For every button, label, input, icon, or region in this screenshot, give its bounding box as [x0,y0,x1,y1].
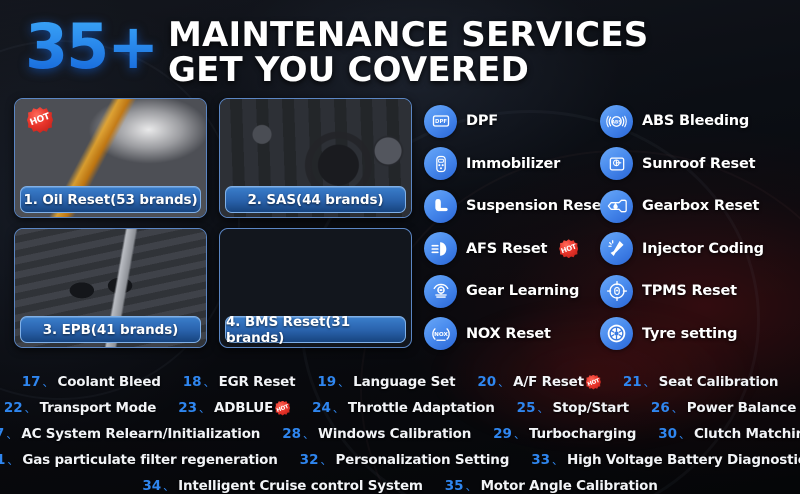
hot-badge-icon [586,375,601,390]
list-item-number: 27 [0,426,4,442]
list-item[interactable]: 20、A/F Reset [477,374,601,390]
service-icon-item-injector-coding[interactable]: Injector Coding [600,232,796,265]
list-item[interactable]: 35、Motor Angle Calibration [445,478,658,494]
promo-banner: 35+ MAINTENANCE SERVICES GET YOU COVERED… [0,0,800,494]
list-item-label: Turbocharging [529,426,636,442]
title-line-1: MAINTENANCE SERVICES [168,18,648,53]
list-item-number: 25 [517,400,536,416]
list-separator: 、 [320,452,331,468]
list-item-label: Gas particulate filter regeneration [22,452,277,468]
list-separator: 、 [333,400,344,416]
list-item[interactable]: 21、Seat Calibration [623,374,778,390]
hot-badge-icon [275,401,290,416]
service-icon-item-abs-bleeding[interactable]: ABS ABS Bleeding [600,105,796,138]
list-item-number: 35 [445,478,464,494]
list-item-label: Language Set [353,374,455,390]
service-icon-item-suspension-reset[interactable]: Suspension Reset [424,190,600,223]
list-item[interactable]: 17、Coolant Bleed [22,374,161,390]
list-item-number: 24 [312,400,331,416]
dpf-icon: DPF [424,105,457,138]
list-item-label: A/F Reset [513,374,584,390]
list-separator: 、 [204,374,215,390]
service-icon-label: AFS Reset [466,241,547,257]
list-item-label: Coolant Bleed [58,374,161,390]
service-icon-item-gearbox-reset[interactable]: Gearbox Reset [600,190,796,223]
list-item-label: Clutch Matching [694,426,800,442]
list-item-number: 18 [183,374,202,390]
list-item-label: ADBLUE [214,400,273,416]
tyre-wheel-icon [600,317,633,350]
service-icon-grid: DPF DPF ABS ABS Bleeding Immobilizer Sun… [424,100,796,355]
list-item[interactable]: 30、Clutch Matching [658,426,800,442]
list-separator: 、 [7,452,18,468]
list-item[interactable]: 22、Transport Mode [4,400,156,416]
service-icon-label: Tyre setting [642,326,737,342]
service-icon-label: NOX Reset [466,326,551,342]
service-card-oil-reset[interactable]: 1. Oil Reset(53 brands) [14,98,207,218]
service-icon-label: Suspension Reset [466,198,608,214]
list-separator: 、 [498,374,509,390]
list-item[interactable]: 31、Gas particulate filter regeneration [0,452,278,468]
service-icon-item-tpms-reset[interactable]: TPMS Reset [600,275,796,308]
svg-text:DPF: DPF [435,119,447,125]
sunroof-icon [600,147,633,180]
list-row: 31、Gas particulate filter regeneration 3… [0,447,800,473]
service-icon-item-immobilizer[interactable]: Immobilizer [424,147,600,180]
additional-services-list: 17、Coolant Bleed 18、EGR Reset 19、Languag… [0,363,800,494]
list-separator: 、 [303,426,314,442]
service-card-epb[interactable]: 3. EPB(41 brands) [14,228,207,348]
list-item-number: 21 [623,374,642,390]
service-card-sas[interactable]: 2. SAS(44 brands) [219,98,412,218]
tyre-pressure-sensor-icon [600,275,633,308]
list-separator: 、 [466,478,477,494]
list-separator: 、 [644,374,655,390]
service-icon-item-afs-reset[interactable]: AFS Reset [424,232,600,265]
list-separator: 、 [338,374,349,390]
list-row: 27、AC System Relearn/Initialization 28、W… [0,421,800,447]
service-icon-label: Gearbox Reset [642,198,759,214]
list-item[interactable]: 27、AC System Relearn/Initialization [0,426,260,442]
list-item[interactable]: 26、Power Balance [651,400,796,416]
list-item-number: 23 [178,400,197,416]
list-item[interactable]: 19、Language Set [317,374,455,390]
list-separator: 、 [25,400,36,416]
list-separator: 、 [6,426,17,442]
service-icon-label: ABS Bleeding [642,113,749,129]
list-item-label: Stop/Start [552,400,628,416]
service-icon-label: TPMS Reset [642,283,737,299]
list-item-label: Intelligent Cruise control System [178,478,423,494]
list-item-number: 28 [282,426,301,442]
list-separator: 、 [679,426,690,442]
list-item-number: 32 [300,452,319,468]
list-item-label: Seat Calibration [659,374,779,390]
service-count: 35+ [25,16,157,78]
page-title: MAINTENANCE SERVICES GET YOU COVERED [168,18,648,89]
car-seat-suspension-icon [424,190,457,223]
list-row: 22、Transport Mode 23、ADBLUE 24、Throttle … [0,395,800,421]
list-item[interactable]: 18、EGR Reset [183,374,296,390]
list-item[interactable]: 24、Throttle Adaptation [312,400,495,416]
list-item[interactable]: 29、Turbocharging [493,426,636,442]
list-item-number: 30 [658,426,677,442]
list-item-label: Motor Angle Calibration [481,478,658,494]
gearbox-oil-icon [600,190,633,223]
service-card-bms-reset[interactable]: 4. BMS Reset(31 brands) [219,228,412,348]
service-card-label: 1. Oil Reset(53 brands) [20,186,201,213]
list-item-number: 33 [531,452,550,468]
title-line-2: GET YOU COVERED [168,53,648,88]
service-icon-label: DPF [466,113,498,129]
service-icon-label: Immobilizer [466,156,560,172]
svg-text:NOX: NOX [434,332,448,338]
list-item-number: 20 [477,374,496,390]
service-icon-item-sunroof-reset[interactable]: Sunroof Reset [600,147,796,180]
banner-header: 35+ MAINTENANCE SERVICES GET YOU COVERED [0,8,800,90]
list-separator: 、 [514,426,525,442]
list-row: 34、Intelligent Cruise control System 35、… [0,473,800,494]
list-item-label: Throttle Adaptation [348,400,495,416]
service-card-label: 4. BMS Reset(31 brands) [225,316,406,343]
list-separator: 、 [537,400,548,416]
gear-cog-icon [424,275,457,308]
list-item[interactable]: 28、Windows Calibration [282,426,471,442]
list-item[interactable]: 23、ADBLUE [178,400,290,416]
list-item-label: Personalization Setting [335,452,509,468]
list-item[interactable]: 32、Personalization Setting [300,452,510,468]
featured-service-cards: 1. Oil Reset(53 brands) 2. SAS(44 brands… [14,98,414,352]
list-separator: 、 [43,374,54,390]
service-card-label: 3. EPB(41 brands) [20,316,201,343]
list-item[interactable]: 33、High Voltage Battery Diagnostics [531,452,800,468]
service-card-label: 2. SAS(44 brands) [225,186,406,213]
service-icon-label: Sunroof Reset [642,156,755,172]
list-item-number: 19 [317,374,336,390]
abs-icon: ABS [600,105,633,138]
car-key-fob-icon [424,147,457,180]
list-item[interactable]: 25、Stop/Start [517,400,629,416]
svg-text:ABS: ABS [612,119,621,124]
service-icon-item-nox-reset[interactable]: NOX NOX Reset [424,317,600,350]
list-item-number: 29 [493,426,512,442]
list-item-label: High Voltage Battery Diagnostics [567,452,800,468]
list-item-number: 22 [4,400,23,416]
list-item-number: 34 [142,478,161,494]
headlight-beam-icon [424,232,457,265]
list-separator: 、 [672,400,683,416]
list-item-label: Power Balance [687,400,796,416]
list-item[interactable]: 34、Intelligent Cruise control System [142,478,422,494]
nox-sensor-icon: NOX [424,317,457,350]
list-item-label: EGR Reset [219,374,296,390]
list-item-number: 26 [651,400,670,416]
service-icon-label: Injector Coding [642,241,764,257]
list-item-label: AC System Relearn/Initialization [21,426,260,442]
list-separator: 、 [163,478,174,494]
fuel-injector-icon [600,232,633,265]
service-icon-item-tyre-setting[interactable]: Tyre setting [600,317,796,350]
service-icon-label: Gear Learning [466,283,579,299]
list-separator: 、 [552,452,563,468]
list-item-number: 17 [22,374,41,390]
list-item-number: 31 [0,452,5,468]
hot-badge-icon [559,239,578,258]
list-item-label: Transport Mode [40,400,157,416]
list-row: 17、Coolant Bleed 18、EGR Reset 19、Languag… [0,369,800,395]
service-icon-item-gear-learning[interactable]: Gear Learning [424,275,600,308]
service-icon-item-dpf[interactable]: DPF DPF [424,105,600,138]
list-separator: 、 [199,400,210,416]
list-item-label: Windows Calibration [318,426,471,442]
